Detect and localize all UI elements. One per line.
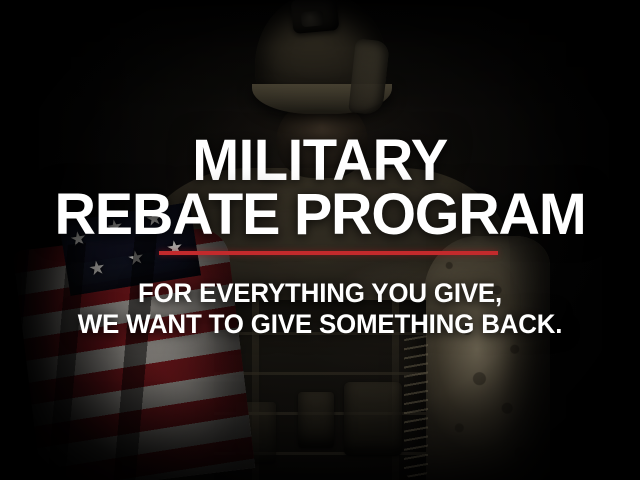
subtitle-line-2: WE WANT TO GIVE SOMETHING BACK.	[13, 310, 627, 338]
subtitle-line-1: FOR EVERYTHING YOU GIVE,	[13, 279, 627, 307]
military-rebate-banner: ★ ★ ★ ★ ★ ★ MILITARY REBATE PROGRAM FOR …	[0, 0, 640, 480]
banner-content: MILITARY REBATE PROGRAM FOR EVERYTHING Y…	[0, 0, 640, 480]
headline-line-2: REBATE PROGRAM	[3, 186, 637, 244]
red-divider-rule	[159, 251, 498, 255]
